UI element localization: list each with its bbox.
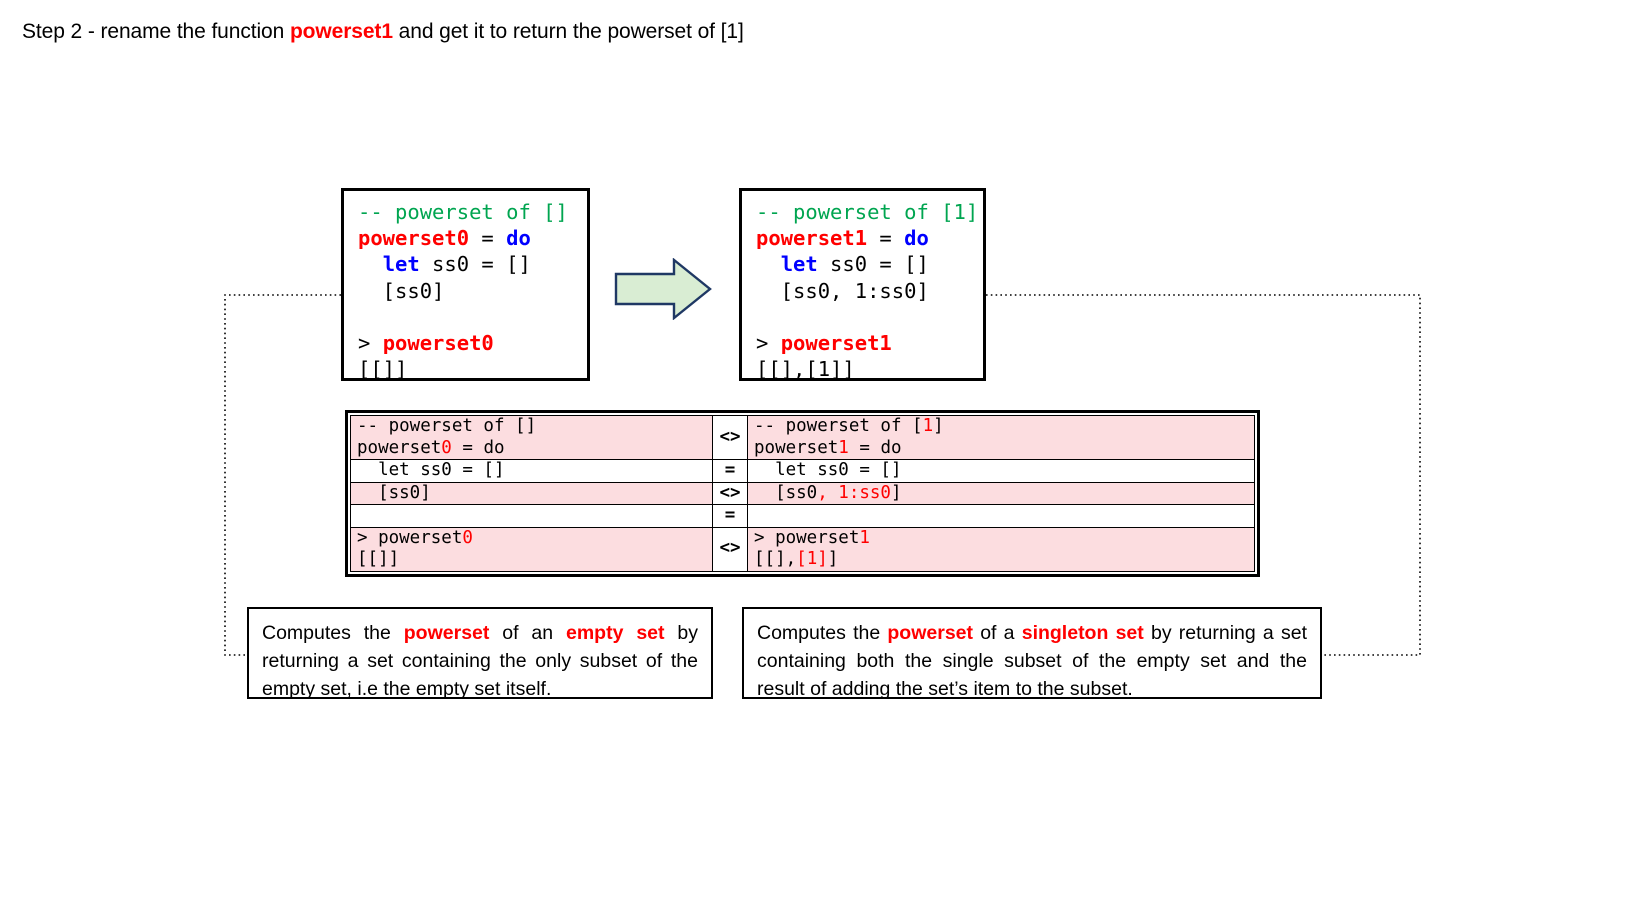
diff-token: -- powerset of [ — [754, 416, 923, 436]
caption-text: powerset — [887, 622, 973, 644]
code-line: [ss0] — [358, 278, 587, 304]
code-token: -- powerset of [] — [358, 200, 568, 224]
code-token: powerset1 — [756, 226, 867, 250]
code-token — [756, 252, 781, 276]
diff-row: [ss0]<> [ss0, 1:ss0] — [351, 482, 1255, 505]
page-title-highlight: powerset1 — [290, 20, 393, 43]
diff-row: > powerset0 [[]]<>> powerset1 [[],[1]] — [351, 527, 1255, 571]
code-token: > — [756, 331, 781, 355]
caption-text: singleton set — [1022, 622, 1144, 644]
diff-blank — [357, 505, 712, 527]
code-line: powerset0 = do — [358, 225, 587, 251]
page-title-prefix: Step 2 - rename the function — [22, 20, 290, 43]
code-line: -- powerset of [1] — [756, 199, 983, 225]
diff-token: 1 — [923, 416, 934, 436]
code-line: -- powerset of [] — [358, 199, 587, 225]
caption-text: empty set — [566, 622, 665, 644]
code-line: [[],[1]] — [756, 356, 983, 382]
diff-token: > powerset — [754, 528, 859, 548]
diff-cell-right: let ss0 = [] — [748, 460, 1255, 483]
diff-table: -- powerset of [] powerset0 = do<>-- pow… — [345, 410, 1260, 577]
diff-token: , 1:ss0 — [817, 483, 891, 503]
code-token: do — [506, 226, 531, 250]
code-token: [ss0, 1:ss0] — [756, 279, 929, 303]
diff-token: [1] — [796, 549, 828, 569]
code-token: [[],[1]] — [756, 357, 855, 381]
diff-table-grid: -- powerset of [] powerset0 = do<>-- pow… — [350, 415, 1255, 572]
diff-token: [ss0] — [357, 483, 431, 503]
diff-token: let ss0 = [] — [754, 460, 902, 480]
diff-cell-left — [351, 505, 713, 528]
caption-text: Computes the — [757, 622, 887, 644]
code-token: powerset0 — [383, 331, 494, 355]
code-line: > powerset1 — [756, 330, 983, 356]
caption-singleton-set: Computes the powerset of a singleton set… — [742, 607, 1322, 699]
diff-row: = — [351, 505, 1255, 528]
code-token: let — [383, 252, 420, 276]
code-line — [358, 304, 587, 330]
diff-token: 1 — [859, 528, 870, 548]
code-line: let ss0 = [] — [358, 251, 587, 277]
diff-row: -- powerset of [] powerset0 = do<>-- pow… — [351, 416, 1255, 460]
code-token: [[]] — [358, 357, 407, 381]
diff-cell-right: -- powerset of [1] powerset1 = do — [748, 416, 1255, 460]
diff-op-marker: = — [713, 460, 748, 483]
code-line: [ss0, 1:ss0] — [756, 278, 983, 304]
code-token: ss0 = [] — [420, 252, 531, 276]
diff-token: 0 — [441, 438, 452, 458]
code-token: -- powerset of [1] — [756, 200, 978, 224]
code-line: powerset1 = do — [756, 225, 983, 251]
diff-cell-right — [748, 505, 1255, 528]
code-token: > — [358, 331, 383, 355]
caption-empty-set: Computes the powerset of an empty set by… — [247, 607, 713, 699]
connector-left — [225, 295, 341, 655]
code-token: [ss0] — [358, 279, 444, 303]
code-token — [358, 305, 370, 329]
code-line: [[]] — [358, 356, 587, 382]
diff-op-marker: <> — [713, 482, 748, 505]
diff-cell-left: let ss0 = [] — [351, 460, 713, 483]
diff-cell-left: [ss0] — [351, 482, 713, 505]
diff-op-marker: <> — [713, 416, 748, 460]
diff-token: = do — [849, 438, 902, 458]
transform-arrow-icon — [614, 258, 712, 320]
code-token: = — [867, 226, 904, 250]
page-title: Step 2 - rename the function powerset1 a… — [22, 20, 744, 44]
code-line — [756, 304, 983, 330]
caption-text: powerset — [404, 622, 490, 644]
diff-token: [[]] — [357, 549, 399, 569]
code-block-powerset0: -- powerset of []powerset0 = do let ss0 … — [341, 188, 590, 381]
diff-blank — [754, 505, 1254, 527]
caption-text: of an — [489, 622, 566, 644]
code-token: = — [469, 226, 506, 250]
code-token: do — [904, 226, 929, 250]
diff-token: [[], — [754, 549, 796, 569]
caption-text: Computes the — [262, 622, 404, 644]
diff-token: let ss0 = [] — [357, 460, 505, 480]
code-token — [358, 252, 383, 276]
code-token: powerset0 — [358, 226, 469, 250]
code-token — [756, 305, 768, 329]
code-token: powerset1 — [781, 331, 892, 355]
diff-row: let ss0 = []= let ss0 = [] — [351, 460, 1255, 483]
diff-token: [ss0 — [754, 483, 817, 503]
diff-op-marker: = — [713, 505, 748, 528]
code-token: ss0 = [] — [818, 252, 929, 276]
diff-token: = do — [452, 438, 505, 458]
diff-cell-left: > powerset0 [[]] — [351, 527, 713, 571]
code-token: let — [781, 252, 818, 276]
page-title-suffix: and get it to return the powerset of [1] — [393, 20, 744, 43]
diff-cell-right: > powerset1 [[],[1]] — [748, 527, 1255, 571]
code-block-powerset1: -- powerset of [1]powerset1 = do let ss0… — [739, 188, 986, 381]
diff-op-marker: <> — [713, 527, 748, 571]
caption-text: of a — [973, 622, 1022, 644]
diff-token: 1 — [838, 438, 849, 458]
diff-cell-left: -- powerset of [] powerset0 = do — [351, 416, 713, 460]
diff-token: ] — [828, 549, 839, 569]
diff-token: > powerset — [357, 528, 462, 548]
diff-token: 0 — [462, 528, 473, 548]
diff-cell-right: [ss0, 1:ss0] — [748, 482, 1255, 505]
diff-token: ] — [891, 483, 902, 503]
code-line: > powerset0 — [358, 330, 587, 356]
code-line: let ss0 = [] — [756, 251, 983, 277]
